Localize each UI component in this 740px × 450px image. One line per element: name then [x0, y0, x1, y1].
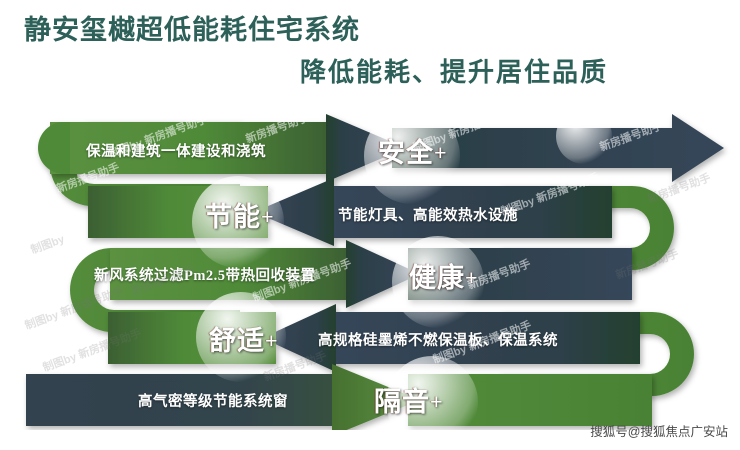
row5-slate-band — [26, 374, 338, 426]
row4-slate-band — [330, 312, 640, 364]
row3-slate-band — [408, 248, 632, 300]
page-subtitle: 降低能耗、提升居住品质 — [300, 52, 608, 89]
flow-row-1[interactable] — [38, 114, 724, 182]
row3-green-band — [110, 248, 350, 300]
row1-green-band — [50, 122, 330, 174]
page-title: 静安玺樾超低能耗住宅系统 — [24, 8, 360, 47]
row4-green-band — [108, 312, 276, 364]
row2-green-band — [88, 186, 268, 238]
row1-left-cap — [38, 122, 70, 174]
row2-slate-band — [330, 186, 612, 238]
flow-row-5[interactable] — [26, 364, 652, 430]
slide-canvas: 静安玺樾超低能耗住宅系统 降低能耗、提升居住品质 — [0, 0, 740, 450]
process-flow-diagram — [0, 100, 740, 430]
row1-slate-shaft — [392, 114, 724, 182]
flow-row-3[interactable] — [110, 240, 632, 308]
flow-row-4[interactable] — [108, 304, 640, 372]
footer-attribution: 搜狐号@搜狐焦点广安站 — [590, 421, 728, 440]
row5-green-band — [408, 374, 652, 426]
row5-green-arrowhead — [332, 364, 420, 430]
flow-row-2[interactable] — [88, 178, 612, 246]
